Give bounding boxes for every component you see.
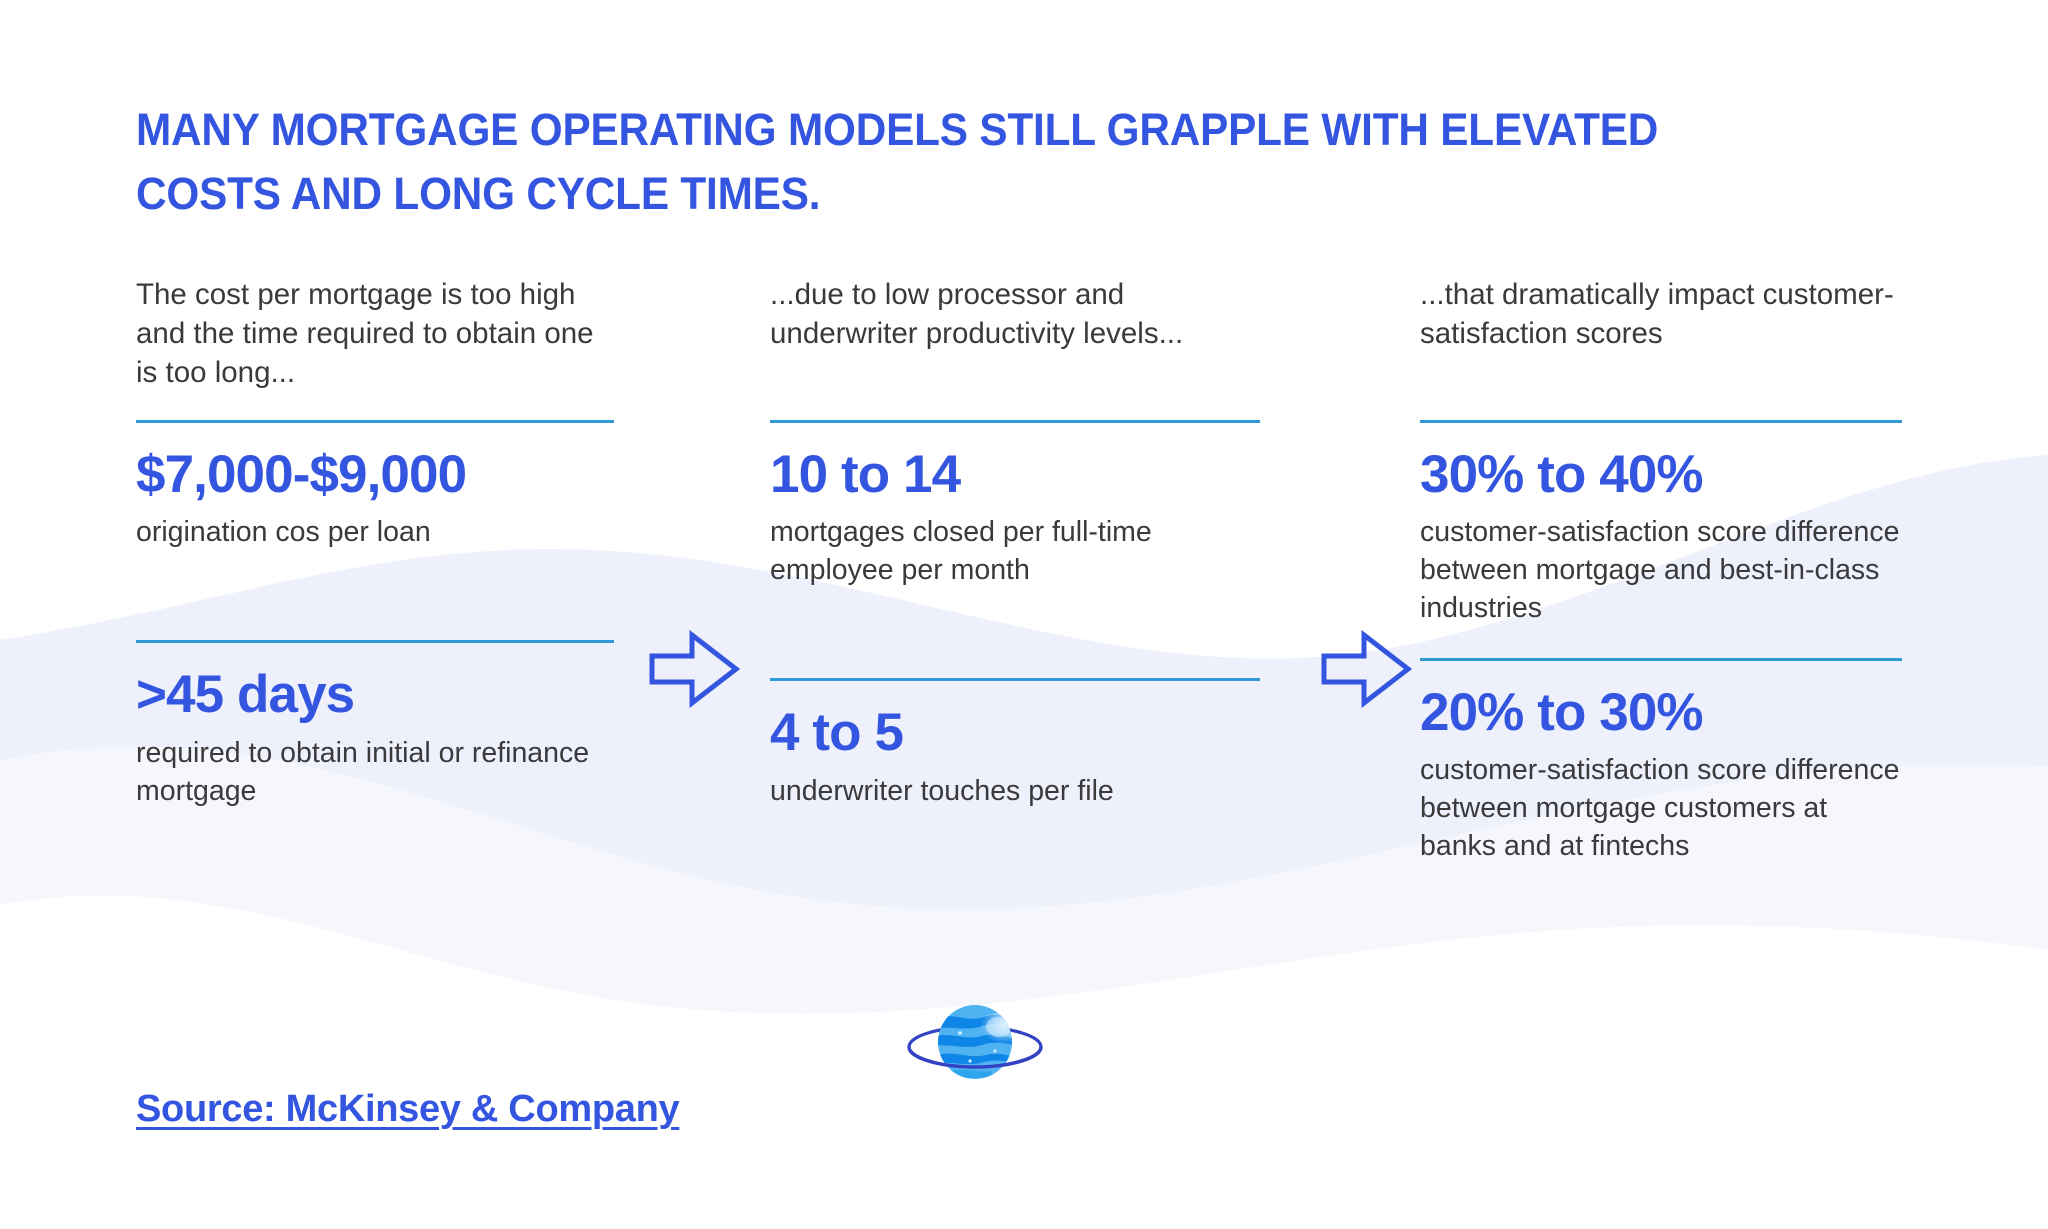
source-link[interactable]: Source: McKinsey & Company [136, 1088, 679, 1131]
stat-caption: mortgages closed per full-time employee … [770, 514, 1260, 590]
stat-caption: required to obtain initial or refinance … [136, 735, 614, 811]
infographic-content: MANY MORTGAGE OPERATING MODELS STILL GRA… [0, 0, 2048, 1229]
column-3-stat-1: 30% to 40% customer-satisfaction score d… [1420, 423, 1902, 628]
planet-icon [900, 995, 1050, 1095]
column-3-spacer [1420, 628, 1902, 658]
right-arrow-icon [1320, 630, 1412, 708]
stat-column-1: The cost per mortgage is too high and th… [136, 276, 614, 810]
column-1-stat-2: >45 days required to obtain initial or r… [136, 643, 614, 810]
stat-value: 10 to 14 [770, 445, 1260, 504]
column-1-stat-1: $7,000-$9,000 origination cos per loan [136, 423, 614, 552]
column-2-stat-1: 10 to 14 mortgages closed per full-time … [770, 423, 1260, 590]
column-1-intro: The cost per mortgage is too high and th… [136, 276, 614, 394]
infographic-canvas: MANY MORTGAGE OPERATING MODELS STILL GRA… [0, 0, 2048, 1229]
stat-caption: customer-satisfaction score difference b… [1420, 514, 1902, 628]
column-3-stat-2: 20% to 30% customer-satisfaction score d… [1420, 661, 1902, 866]
stat-value: 20% to 30% [1420, 683, 1902, 742]
stat-value: >45 days [136, 665, 614, 724]
column-2-spacer [770, 590, 1260, 678]
page-title-line-2: COSTS AND LONG CYCLE TIMES. [136, 162, 1828, 226]
stat-value: 4 to 5 [770, 703, 1260, 762]
stat-caption: customer-satisfaction score difference b… [1420, 752, 1902, 866]
stat-value: 30% to 40% [1420, 445, 1902, 504]
stat-column-2: ...due to low processor and underwriter … [770, 276, 1260, 810]
stat-value: $7,000-$9,000 [136, 445, 614, 504]
stat-caption: origination cos per loan [136, 514, 614, 552]
column-2-intro: ...due to low processor and underwriter … [770, 276, 1260, 394]
column-2-stat-2: 4 to 5 underwriter touches per file [770, 681, 1260, 810]
column-3-intro: ...that dramatically impact customer-sat… [1420, 276, 1902, 394]
right-arrow-icon [648, 630, 740, 708]
stat-column-3: ...that dramatically impact customer-sat… [1420, 276, 1902, 866]
column-1-spacer [136, 552, 614, 640]
page-title-line-1: MANY MORTGAGE OPERATING MODELS STILL GRA… [136, 98, 1828, 162]
stat-caption: underwriter touches per file [770, 773, 1260, 811]
page-title: MANY MORTGAGE OPERATING MODELS STILL GRA… [136, 98, 1828, 226]
